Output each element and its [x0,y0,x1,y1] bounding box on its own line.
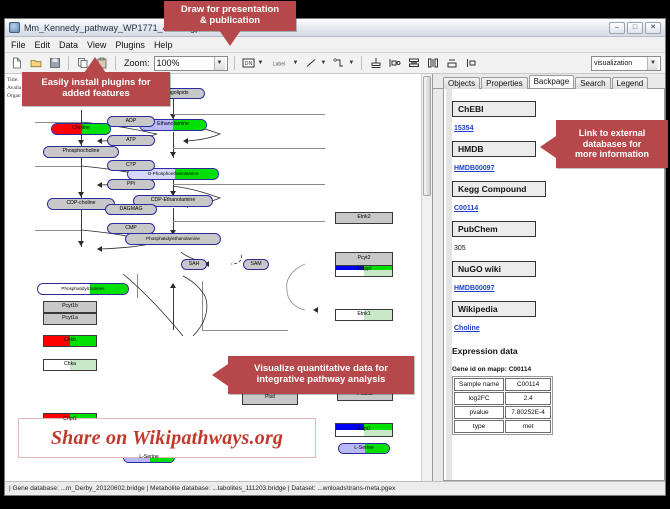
cell-key: pvalue [454,406,504,419]
group-icon[interactable] [444,56,459,71]
node-label: ATP [126,138,136,143]
open-folder-icon[interactable] [28,56,43,71]
node-label: CDP-Ethanolamine [151,198,195,203]
db-value-pubchem: 305 [454,245,466,252]
node-label: Pcyt2 [358,256,371,261]
canvas-info-title: Title: [7,77,19,83]
close-button[interactable]: ✕ [645,22,661,34]
callout-draw: Draw for presentation & publication [164,1,296,31]
menu-item-edit[interactable]: Edit [35,40,51,50]
arrowhead-icon [313,307,318,313]
canvas-vertical-scrollbar[interactable] [421,74,432,481]
tab-legend[interactable]: Legend [612,77,649,89]
arrowhead-icon [78,140,84,145]
arrowhead-icon [183,138,188,144]
new-file-icon[interactable] [9,56,24,71]
node-phosphocholine[interactable]: Phosphocholine [43,146,119,158]
status-bar: | Gene database: ...m_Derby_20120602.bri… [5,481,665,495]
connector-icon[interactable] [331,56,346,71]
status-text: | Gene database: ...m_Derby_20120602.bri… [9,485,395,492]
callout-pointer-left-icon [540,136,556,158]
zoom-combo[interactable]: 100% ▼ [154,56,228,71]
zoom-value: 100% [157,58,180,68]
node-label: Phosphatidylethanolamine [146,237,200,242]
cell-key: Sample name [454,378,504,391]
node-etnk2[interactable]: Etnk2 [335,212,393,224]
cell-value: 7.80252E-4 [505,406,551,419]
chevron-down-icon[interactable]: ▼ [320,60,326,66]
chevron-down-icon[interactable]: ▼ [292,60,298,66]
node-label: Etnk2 [357,215,370,220]
scrollbar-thumb[interactable] [423,76,431,196]
arrowhead-icon [170,152,176,157]
node-sah[interactable]: SAH [181,259,207,270]
node-cmp[interactable]: CMP [107,223,155,234]
callout-line-2: & publication [200,16,260,27]
node-label: CDP-choline [66,201,95,206]
label-icon[interactable]: Label [268,56,290,71]
align-left-icon[interactable] [387,56,402,71]
edge-pemt-branch [137,274,138,298]
arrowhead-icon [97,138,102,144]
node-cept1[interactable]: Cept1 [335,423,393,437]
node-label: PPi [127,182,135,187]
node-label: SAM [250,262,261,267]
menu-item-plugins[interactable]: Plugins [115,40,145,50]
node-label: Ethanolamine [140,122,206,127]
table-row: pvalue 7.80252E-4 [454,406,551,419]
arrowhead-icon [97,182,102,188]
distribute-icon[interactable] [425,56,440,71]
svg-text:DN: DN [244,61,252,67]
node-label: SAH [189,262,200,267]
node-label: Etnppl [336,267,392,272]
node-label: Choline [52,126,110,131]
pathvisio-icon [9,22,20,33]
db-header-wikipedia: Wikipedia [452,301,536,317]
chevron-down-icon[interactable]: ▼ [258,60,264,66]
share-banner: Share on Wikipathways.org [18,418,316,458]
node-label: Phosphocholine [63,149,100,154]
callout-line-2: databases for [583,139,642,149]
node-phosphatidylcholines[interactable]: Phosphatidylcholines [37,283,129,295]
save-icon[interactable] [47,56,62,71]
node-ctp[interactable]: CTP [107,160,155,171]
minimize-button[interactable]: – [609,22,625,34]
tab-properties[interactable]: Properties [481,77,527,89]
node-chka[interactable]: Chka [43,359,97,371]
edge-pisd-branch [202,281,203,330]
menu-item-view[interactable]: View [87,40,106,50]
node-label: L-Serine [124,455,174,460]
edge-cept1-to-backbone [173,221,325,222]
node-label: CTP [126,163,136,168]
node-phosphatidylethanolamine[interactable]: Phosphatidylethanolamine [125,233,221,245]
toolbar-separator [361,56,362,70]
align-bottom-icon[interactable] [368,56,383,71]
edge-chpt1-to-backbone [35,166,81,167]
callout-line-2: integrative pathway analysis [257,375,386,386]
title-bar: Mm_Kennedy_pathway_WP1771_45176.gpml – □… [5,19,665,37]
edge-pcyt2-to-backbone [173,184,325,185]
table-row: log2FC 2.4 [454,392,551,405]
node-label: Pisd [265,395,275,400]
callout-plugins: Easily install plugins for added feature… [22,72,170,106]
cell-value: 2.4 [505,392,551,405]
node-label: L-Serine [339,446,389,451]
node-pcyt1b[interactable]: Pcyt1b [43,301,97,313]
visualization-combo[interactable]: visualization ▼ [591,56,661,71]
edge-pe-upward [173,288,174,330]
db-header-hmdb: HMDB [452,141,536,157]
node-label: CMP [125,226,137,231]
datanode-icon[interactable]: DN [241,56,256,71]
db-header-pubchem: PubChem [452,221,536,237]
window-controls: – □ ✕ [609,22,661,34]
menu-item-help[interactable]: Help [154,40,173,50]
menu-item-file[interactable]: File [11,40,26,50]
chevron-down-icon[interactable]: ▼ [647,57,658,70]
node-choline-top[interactable]: Choline [51,123,111,135]
toolbar-separator [234,56,235,70]
db-header-kegg: Kegg Compound [452,181,546,197]
cell-key: log2FC [454,392,504,405]
edge-etnk-to-backbone [173,148,325,149]
table-row: type met [454,420,551,433]
expression-data-title: Expression data [452,346,656,356]
node-label: Chpt1 [44,417,96,422]
callout-pointer-down-icon [219,30,241,46]
db-header-nugo: NuGO wiki [452,261,536,277]
node-l-serine-right[interactable]: L-Serine [338,443,390,454]
chevron-down-icon[interactable]: ▼ [348,60,354,66]
cell-value: met [505,420,551,433]
maximize-button[interactable]: □ [627,22,643,34]
toolbar-separator [115,56,116,70]
node-label: Phosphatidylcholines [38,287,128,292]
side-panel-tabs: Objects Properties Backpage Search Legen… [433,74,665,89]
arrowhead-icon [170,283,176,288]
db-header-chebi: ChEBI [452,101,536,117]
node-etnk1[interactable]: Etnk1 [335,309,393,321]
node-label: Pcyt1b [62,304,78,309]
table-row: Sample name C00114 [454,378,551,391]
edge-ptdss-line [202,330,288,331]
stack-icon[interactable] [406,56,421,71]
db-link-kegg[interactable]: C00114 [454,205,478,212]
tab-backpage[interactable]: Backpage [529,75,575,88]
zoom-label: Zoom: [124,58,150,68]
toolbar-separator [68,56,69,70]
expression-table: Sample name C00114 log2FC 2.4 pvalue 7.8… [452,376,553,435]
menu-bar: File Edit Data View Plugins Help [5,37,665,53]
arrowhead-icon [78,241,84,246]
callout-pointer-left-icon [212,364,228,386]
cell-key: type [454,420,504,433]
gene-id-on-mapp: Gene id on mapp: C00114 [452,366,656,373]
node-label: Etnk1 [336,312,392,317]
db-link-chebi[interactable]: 15354 [454,125,473,132]
svg-text:Label: Label [273,61,285,67]
db-link-wikipedia[interactable]: Choline [454,325,480,332]
edge-etnppl-to-backbone [173,114,325,115]
ungroup-icon[interactable] [463,56,478,71]
cell-value: C00114 [505,378,551,391]
node-label: DAGMAG [119,207,142,212]
node-label: Pcyt1a [62,316,78,321]
line-icon[interactable] [303,56,318,71]
node-atp[interactable]: ATP [107,135,155,146]
callout-line-1: Link to external [579,128,646,138]
edge-pcyt1-to-backbone [35,230,81,231]
menu-item-data[interactable]: Data [59,40,78,50]
node-ppi[interactable]: PPi [107,179,155,190]
share-banner-text: Share on Wikipathways.org [51,427,283,450]
callout-visualize: Visualize quantitative data for integrat… [228,356,414,394]
node-sam[interactable]: SAM [243,259,269,270]
node-label: Chka [44,362,96,367]
node-label: ADP [126,119,137,124]
callout-pointer-up-icon [84,57,106,73]
canvas-info-organism: Organ [7,93,21,99]
node-dagmag[interactable]: DAGMAG [105,204,157,215]
node-pcyt1a[interactable]: Pcyt1a [43,313,97,325]
callout-databases: Link to external databases for more info… [556,120,668,168]
backpage-scrollbar[interactable] [446,89,452,480]
node-label: Chkb [44,338,96,343]
arrowhead-icon [97,246,102,252]
arrowhead-icon [78,192,84,197]
db-link-nugo[interactable]: HMDB00097 [454,285,494,292]
visualization-value: visualization [594,60,632,67]
canvas-info-availability: Availa [7,85,21,91]
callout-line-2: added features [62,89,130,100]
node-pcyt2[interactable]: Pcyt2 [335,252,393,266]
tab-objects[interactable]: Objects [443,77,480,89]
callout-line-3: more information [575,149,649,159]
db-link-hmdb[interactable]: HMDB00097 [454,165,494,172]
chevron-down-icon[interactable]: ▼ [214,57,225,70]
node-label: O-Phosphoethanolamine [128,172,218,177]
node-chkb[interactable]: Chkb [43,335,97,347]
node-label: Cept1 [336,427,392,432]
tab-search[interactable]: Search [575,77,610,89]
